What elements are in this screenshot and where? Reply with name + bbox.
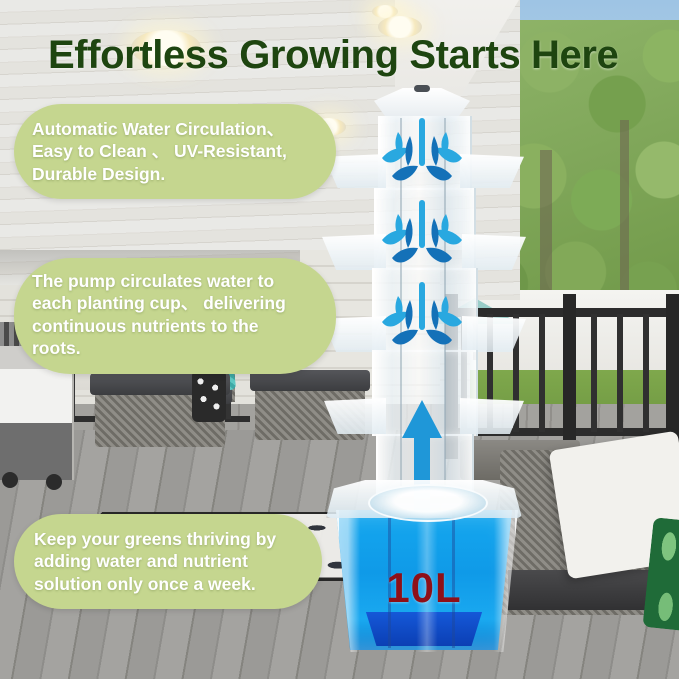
railing-baluster xyxy=(617,314,623,432)
page-title: Effortless Growing Starts Here xyxy=(48,33,648,78)
planting-tray-left xyxy=(324,398,386,434)
feature-callout-weekly-refill: Keep your greens thriving by adding wate… xyxy=(14,514,322,609)
tree-trunk xyxy=(620,120,629,310)
callout-line: continuous nutrients to the xyxy=(32,315,320,337)
feature-callout-pump-circulation: The pump circulates water to each planti… xyxy=(14,258,336,374)
feature-callout-features: Automatic Water Circulation、 Easy to Cle… xyxy=(14,104,336,199)
callout-line: solution only once a week. xyxy=(34,573,306,595)
grill-wheel xyxy=(46,474,62,490)
tower-lid-knob xyxy=(414,85,430,92)
railing-baluster xyxy=(539,314,545,432)
tank-basin xyxy=(368,484,488,522)
callout-line: Easy to Clean 、 UV-Resistant, xyxy=(32,140,320,162)
water-spray-icon xyxy=(362,196,482,282)
grill-wheel xyxy=(2,472,18,488)
callout-line: adding water and nutrient xyxy=(34,550,306,572)
railing-baluster xyxy=(643,314,649,432)
side-table xyxy=(192,370,226,422)
product-marketing-image: 10L Effortless Growing Starts Here Autom… xyxy=(0,0,679,679)
callout-line: Keep your greens thriving by xyxy=(34,528,306,550)
railing-baluster xyxy=(591,314,597,432)
tank-capacity-label: 10L xyxy=(328,564,520,612)
callout-line: Automatic Water Circulation、 xyxy=(32,118,320,140)
callout-line: The pump circulates water to xyxy=(32,270,320,292)
water-spray-icon xyxy=(362,278,482,364)
callout-line: Durable Design. xyxy=(32,163,320,185)
callout-line: each planting cup、 delivering xyxy=(32,292,320,314)
hydroponic-tower-product: 10L xyxy=(322,88,527,658)
water-reservoir-tank: 10L xyxy=(328,480,520,656)
railing-post xyxy=(563,294,576,459)
water-spray-icon xyxy=(362,114,482,200)
planting-tray-right xyxy=(460,398,524,434)
callout-line: roots. xyxy=(32,337,320,359)
